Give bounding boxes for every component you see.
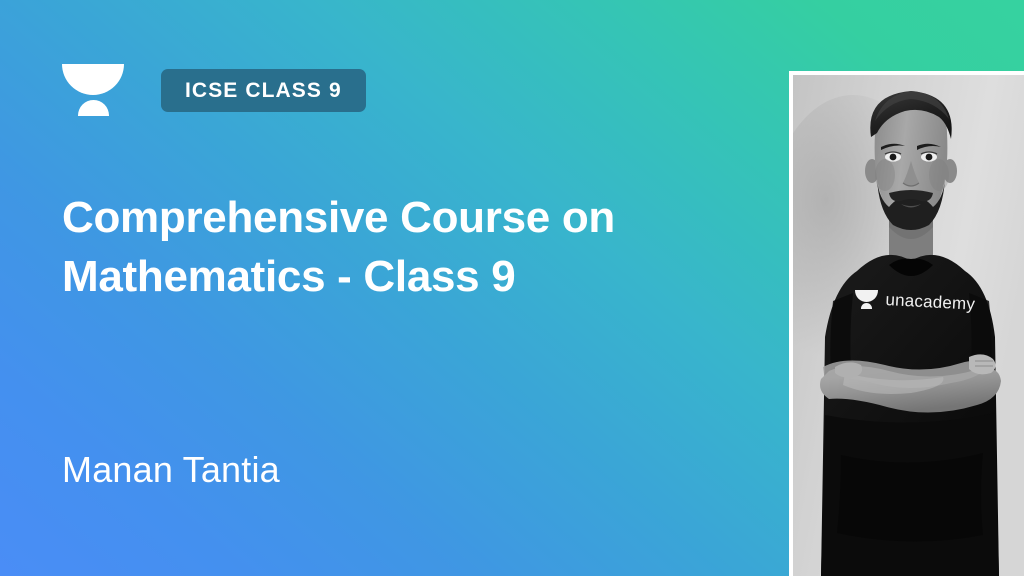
logo-bowl-shape: [62, 64, 124, 95]
educator-name: Manan Tantia: [62, 448, 280, 491]
educator-photo-frame: unacademy: [789, 71, 1024, 576]
unacademy-bowl-logo-icon: [62, 64, 124, 120]
course-thumbnail-card: ICSE CLASS 9 Comprehensive Course on Mat…: [0, 0, 1024, 576]
educator-portrait-image: unacademy: [793, 75, 1024, 576]
category-badge[interactable]: ICSE CLASS 9: [161, 69, 366, 112]
logo-base-shape: [78, 100, 109, 116]
course-title: Comprehensive Course on Mathematics - Cl…: [62, 188, 662, 306]
category-badge-label: ICSE CLASS 9: [185, 80, 342, 101]
course-info-panel: ICSE CLASS 9 Comprehensive Course on Mat…: [0, 0, 790, 576]
